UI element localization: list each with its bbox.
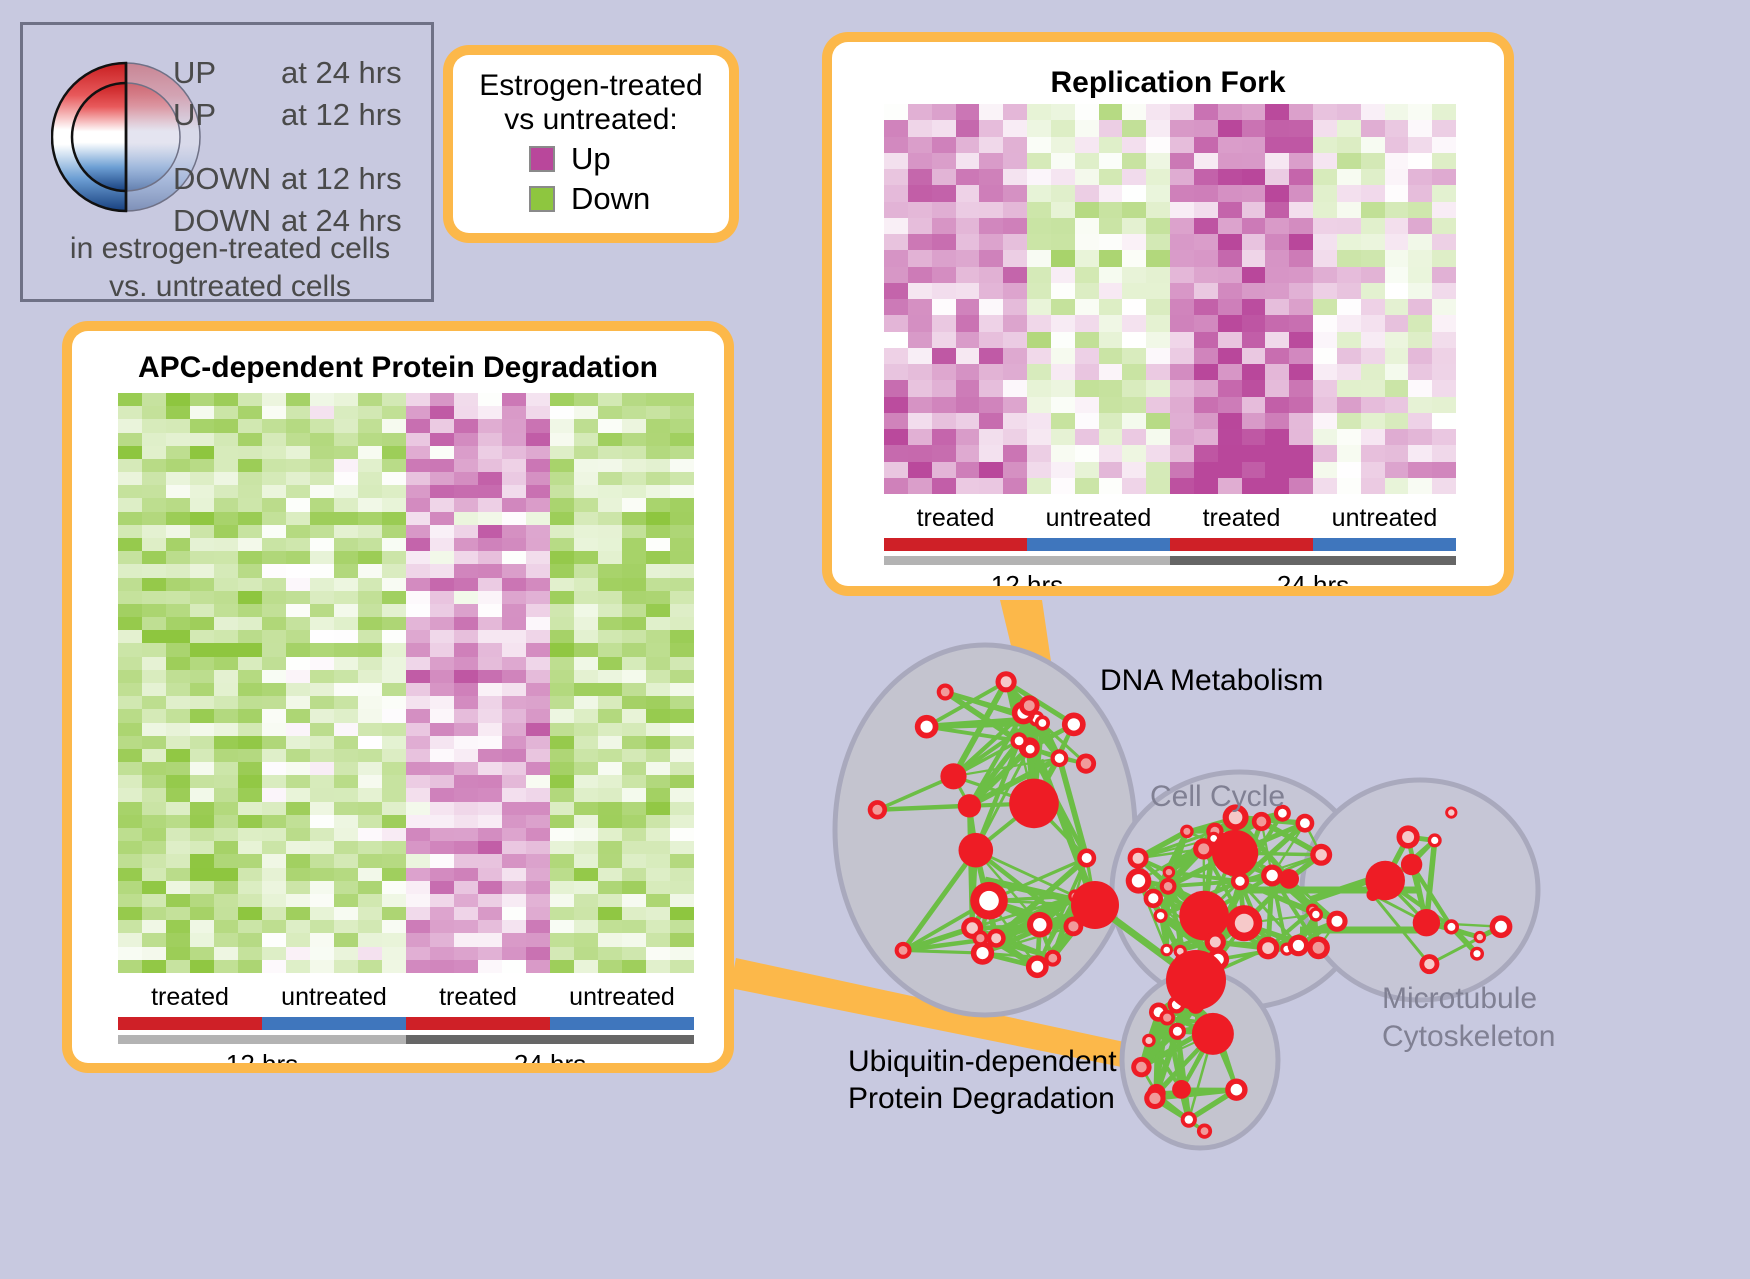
network-node-core (976, 947, 988, 959)
network-node-core (1235, 914, 1254, 933)
network-node-core (1081, 758, 1092, 769)
network-node-core (1068, 718, 1080, 730)
cluster-label-cell-cycle: Cell Cycle (1150, 780, 1285, 814)
network-node[interactable] (1192, 1013, 1234, 1055)
network-node-core (1024, 700, 1035, 711)
network-node-core (1157, 912, 1164, 919)
network-node-core (1332, 916, 1343, 927)
network-node-core (1198, 843, 1209, 854)
network-node-core (1266, 870, 1277, 881)
network-node-core (1402, 831, 1414, 843)
network-node-core (1477, 934, 1483, 940)
network-node-core (1082, 853, 1092, 863)
network-node-core (1183, 828, 1190, 835)
cluster-label-ubiquitin-degradation: Ubiquitin-dependent Protein Degradation (848, 1044, 1117, 1117)
network-node-core (1026, 745, 1035, 754)
network-node[interactable] (1413, 909, 1440, 936)
network-node-core (1424, 959, 1434, 969)
cytoskeleton-line-2: Cytoskeleton (1382, 1018, 1555, 1056)
network-node-core (1068, 921, 1078, 931)
network-node-core (1201, 1127, 1209, 1135)
network-node-core (979, 891, 999, 911)
network-node-core (1448, 809, 1454, 815)
network-node[interactable] (940, 763, 966, 789)
network-node-core (1262, 942, 1274, 954)
network-node-core (1495, 921, 1507, 933)
network-node-core (1031, 961, 1043, 973)
network-node-core (1015, 737, 1024, 746)
network-node-core (872, 805, 882, 815)
network-node-core (1163, 1014, 1171, 1022)
cluster-label-microtubule-cytoskeleton: Microtubule Cytoskeleton (1382, 980, 1555, 1055)
network-node-core (1164, 882, 1173, 891)
network-node-core (941, 688, 950, 697)
network-node-core (1001, 676, 1012, 687)
network-node-core (1447, 923, 1455, 931)
network-node-core (991, 933, 1001, 943)
network-node-core (1055, 754, 1064, 763)
network-node-core (1185, 1115, 1193, 1123)
network-node[interactable] (1009, 779, 1059, 829)
ubiquitin-line-1: Ubiquitin-dependent (848, 1044, 1117, 1081)
network-node-core (1148, 893, 1158, 903)
network-node[interactable] (1367, 888, 1380, 901)
network-node-core (1033, 918, 1046, 931)
network-node[interactable] (958, 794, 981, 817)
network-node-core (1235, 877, 1244, 886)
network-node-core (1313, 942, 1325, 954)
microtubule-line-1: Microtubule (1382, 980, 1555, 1018)
network-node[interactable] (1401, 854, 1422, 875)
figure-canvas: UP at 24 hrs UP at 12 hrs DOWN at 12 hrs… (0, 0, 1750, 1279)
cluster-label-dna-metabolism: DNA Metabolism (1100, 664, 1323, 698)
network-node[interactable] (959, 833, 994, 868)
network-node-core (921, 721, 933, 733)
network-node[interactable] (1071, 881, 1119, 929)
network-node-core (1136, 1062, 1147, 1073)
network-node-core (1163, 947, 1170, 954)
network-node-core (1316, 849, 1327, 860)
network-node-core (899, 946, 908, 955)
network-node-core (1133, 853, 1144, 864)
network-node-core (1166, 869, 1172, 875)
network-node-core (1300, 818, 1310, 828)
network-node-core (1173, 1027, 1182, 1036)
network-node-core (976, 934, 984, 942)
network-node-core (1312, 911, 1319, 918)
ubiquitin-line-2: Protein Degradation (848, 1081, 1117, 1118)
network-node-core (1210, 937, 1221, 948)
network-node-core (1256, 817, 1266, 827)
network-node-core (1048, 954, 1057, 963)
network-node-core (1132, 874, 1145, 887)
network-node[interactable] (1172, 1080, 1191, 1099)
network-node-core (1431, 837, 1438, 844)
network-node[interactable] (1166, 950, 1226, 1010)
network-node-core (1149, 1093, 1160, 1104)
network-node-core (1473, 950, 1480, 957)
network-node-core (1231, 1084, 1243, 1096)
network-node[interactable] (1179, 891, 1229, 941)
network-node-core (1039, 719, 1047, 727)
network-node[interactable] (1212, 830, 1258, 876)
network-node-core (1145, 1037, 1152, 1044)
network-node-core (1293, 940, 1304, 951)
